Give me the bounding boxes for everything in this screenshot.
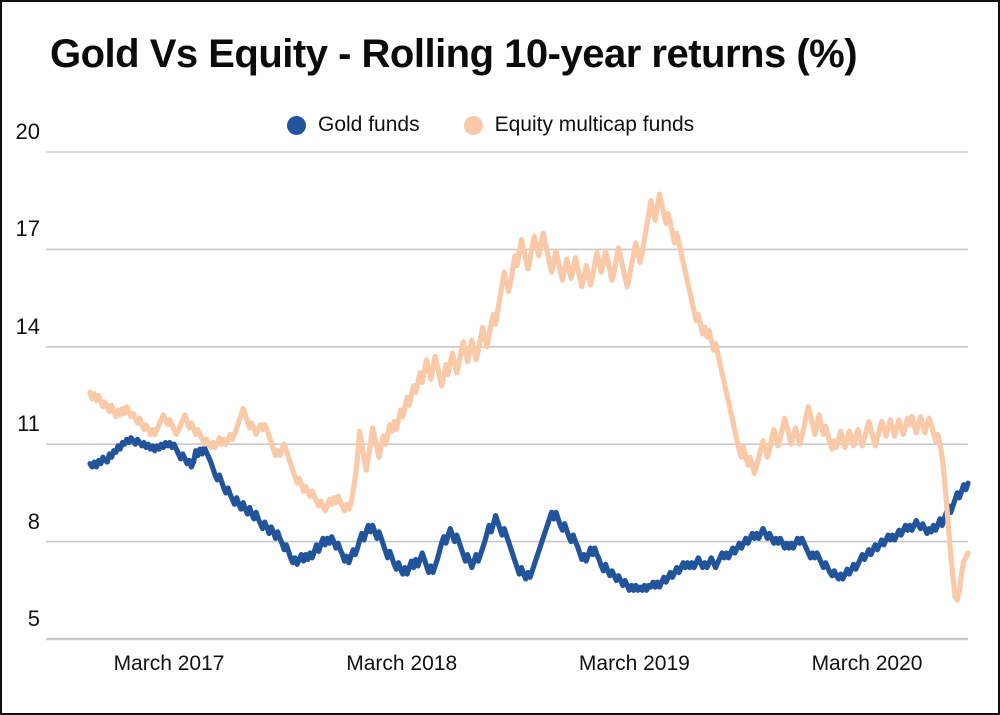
y-tick-label-8: 8 [0,509,40,535]
y-tick-label-17: 17 [0,216,40,242]
series-line-equity-multicap-funds [90,194,968,600]
x-tick-label-0: March 2017 [79,652,259,676]
y-tick-label-20: 20 [0,119,40,145]
series-line-gold-funds [90,438,968,591]
chart-card: Gold Vs Equity - Rolling 10-year returns… [2,2,998,713]
series-group [90,194,968,600]
y-tick-label-5: 5 [0,606,40,632]
chart-page: Gold Vs Equity - Rolling 10-year returns… [0,0,1000,715]
y-tick-label-11: 11 [0,411,40,437]
y-tick-label-14: 14 [0,314,40,340]
chart-svg [2,2,998,713]
x-tick-label-3: March 2020 [777,652,957,676]
x-tick-label-2: March 2019 [544,652,724,676]
plot-area: 5811141720 March 2017March 2018March 201… [2,2,998,713]
x-tick-label-1: March 2018 [312,652,492,676]
